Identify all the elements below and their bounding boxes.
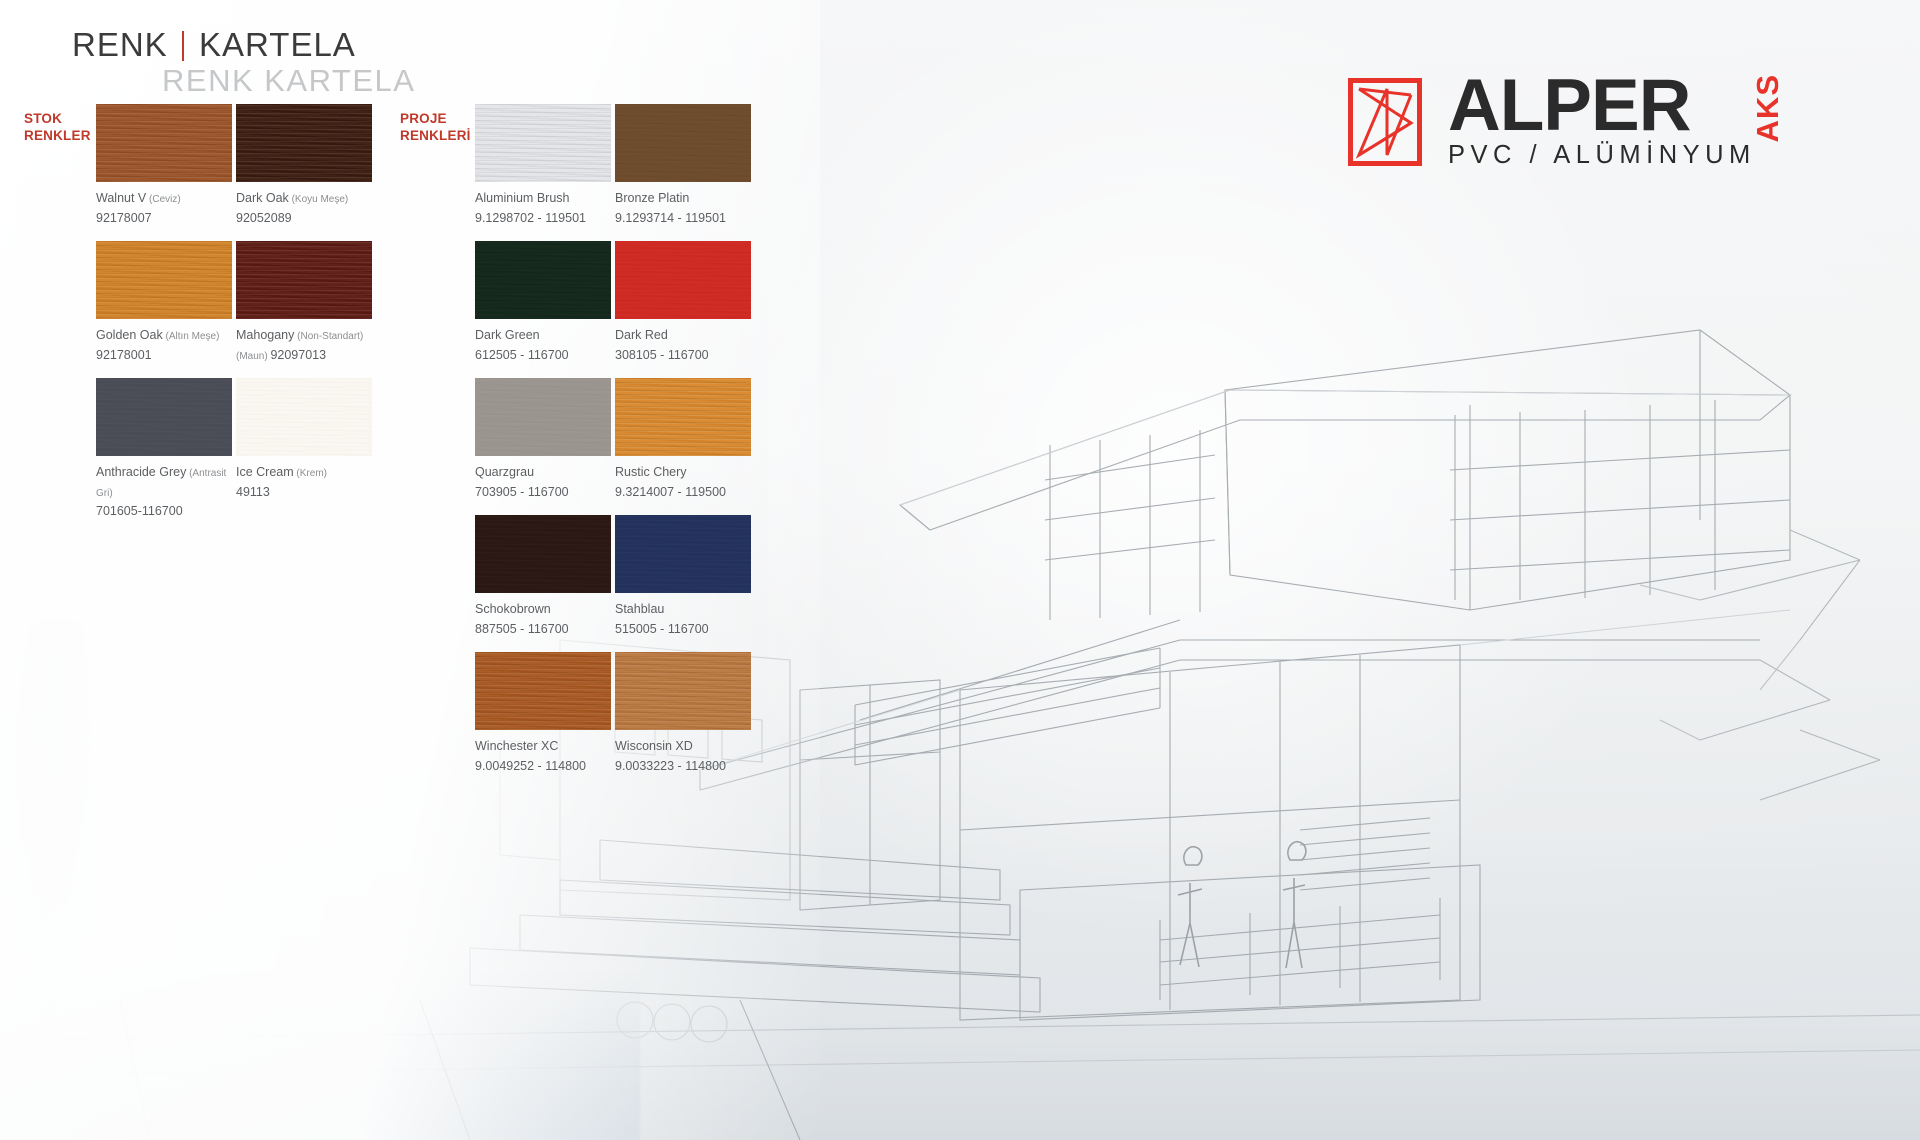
- swatch-name-translation: (Krem): [294, 468, 327, 479]
- swatch-code-line: 9.0049252 - 114800: [475, 756, 611, 776]
- swatch-name-line: Anthracide Grey (Antrasit Gri): [96, 462, 232, 501]
- swatch-row: Golden Oak (Altın Meşe)92178001Mahogany …: [96, 241, 372, 378]
- color-swatch[interactable]: [236, 241, 372, 319]
- swatch-name: Dark Green: [475, 328, 540, 342]
- swatch-name-line: Rustic Chery: [615, 462, 751, 482]
- color-swatch-cell[interactable]: Quarzgrau703905 - 116700: [475, 378, 611, 515]
- swatch-code: 703905 - 116700: [475, 485, 569, 499]
- page-title-right: KARTELA: [199, 26, 356, 63]
- project-colors-label-line2: RENKLERİ: [400, 127, 471, 144]
- color-swatch[interactable]: [236, 378, 372, 456]
- color-swatch-cell[interactable]: Bronze Platin9.1293714 - 119501: [615, 104, 751, 241]
- title-divider: [182, 31, 184, 61]
- swatch-name-translation-2: (Maun): [236, 351, 270, 362]
- brand-name: ALPER: [1448, 72, 1690, 139]
- color-swatch[interactable]: [615, 515, 751, 593]
- swatch-caption: Bronze Platin9.1293714 - 119501: [615, 182, 751, 241]
- swatch-caption: Anthracide Grey (Antrasit Gri)701605-116…: [96, 456, 232, 535]
- swatch-code: 9.1293714 - 119501: [615, 211, 726, 225]
- color-swatch[interactable]: [96, 104, 232, 182]
- color-swatch[interactable]: [475, 241, 611, 319]
- swatch-name-translation: (Koyu Meşe): [289, 194, 348, 205]
- swatch-caption: Walnut V (Ceviz)92178007: [96, 182, 232, 241]
- swatch-name-line: Dark Oak (Koyu Meşe): [236, 188, 372, 208]
- swatch-code-line: 92178007: [96, 208, 232, 228]
- swatch-code-line: 49113: [236, 482, 372, 502]
- swatch-caption: Wisconsin XD9.0033223 - 114800: [615, 730, 751, 789]
- swatch-name-line: Aluminium Brush: [475, 188, 611, 208]
- swatch-caption: Stahblau515005 - 116700: [615, 593, 751, 652]
- swatch-name: Quarzgrau: [475, 465, 534, 479]
- swatch-name-line: Walnut V (Ceviz): [96, 188, 232, 208]
- stock-colors-label-line1: STOK: [24, 110, 91, 127]
- swatch-code: 92178007: [96, 211, 152, 225]
- swatch-name: Mahogany: [236, 328, 294, 342]
- color-swatch[interactable]: [475, 515, 611, 593]
- swatch-code-line: 92178001: [96, 345, 232, 365]
- swatch-row: Walnut V (Ceviz)92178007Dark Oak (Koyu M…: [96, 104, 372, 241]
- swatch-code-line: 9.3214007 - 119500: [615, 482, 751, 502]
- swatch-code-line: 703905 - 116700: [475, 482, 611, 502]
- color-swatch-cell[interactable]: Walnut V (Ceviz)92178007: [96, 104, 232, 241]
- color-swatch[interactable]: [475, 104, 611, 182]
- swatch-name: Ice Cream: [236, 465, 294, 479]
- swatch-name: Walnut V: [96, 191, 146, 205]
- swatch-caption: Quarzgrau703905 - 116700: [475, 456, 611, 515]
- swatch-code: 9.0049252 - 114800: [475, 759, 586, 773]
- page-title-left: RENK: [72, 26, 168, 63]
- swatch-name-line: Bronze Platin: [615, 188, 751, 208]
- swatch-name-line: Golden Oak (Altın Meşe): [96, 325, 232, 345]
- swatch-code-line: 612505 - 116700: [475, 345, 611, 365]
- swatch-caption: Golden Oak (Altın Meşe)92178001: [96, 319, 232, 378]
- swatch-code-line: 9.1298702 - 119501: [475, 208, 611, 228]
- swatch-name: Golden Oak: [96, 328, 163, 342]
- swatch-name-line: Stahblau: [615, 599, 751, 619]
- stock-colors-grid: Walnut V (Ceviz)92178007Dark Oak (Koyu M…: [96, 104, 372, 535]
- swatch-name: Schokobrown: [475, 602, 551, 616]
- color-swatch[interactable]: [615, 652, 751, 730]
- color-swatch[interactable]: [615, 241, 751, 319]
- color-chart-page: RENK KARTELA RENK KARTELA STOK RENKLER P…: [0, 0, 1920, 1140]
- swatch-caption: Schokobrown887505 - 116700: [475, 593, 611, 652]
- swatch-name-translation: (Altın Meşe): [163, 331, 220, 342]
- swatch-name: Dark Oak: [236, 191, 289, 205]
- swatch-row: Winchester XC9.0049252 - 114800Wisconsin…: [475, 652, 751, 789]
- swatch-caption: Mahogany (Non-Standart)(Maun) 92097013: [236, 319, 372, 378]
- color-swatch-cell[interactable]: Anthracide Grey (Antrasit Gri)701605-116…: [96, 378, 232, 535]
- swatch-row: Aluminium Brush9.1298702 - 119501Bronze …: [475, 104, 751, 241]
- swatch-name: Rustic Chery: [615, 465, 687, 479]
- stock-colors-label-line2: RENKLER: [24, 127, 91, 144]
- swatch-caption: Rustic Chery9.3214007 - 119500: [615, 456, 751, 515]
- swatch-caption: Aluminium Brush9.1298702 - 119501: [475, 182, 611, 241]
- color-swatch-cell[interactable]: Rustic Chery9.3214007 - 119500: [615, 378, 751, 515]
- color-swatch[interactable]: [615, 378, 751, 456]
- swatch-code: 9.0033223 - 114800: [615, 759, 726, 773]
- color-swatch[interactable]: [96, 378, 232, 456]
- swatch-row: Schokobrown887505 - 116700Stahblau515005…: [475, 515, 751, 652]
- window-frame-icon: [1348, 78, 1422, 166]
- swatch-name: Dark Red: [615, 328, 668, 342]
- swatch-name: Winchester XC: [475, 739, 558, 753]
- color-swatch[interactable]: [475, 652, 611, 730]
- swatch-row: Quarzgrau703905 - 116700Rustic Chery9.32…: [475, 378, 751, 515]
- brand-logo: ALPER AKS PVC / ALÜMİNYUM: [1348, 72, 1756, 170]
- brand-wordmark: ALPER AKS PVC / ALÜMİNYUM: [1448, 72, 1756, 170]
- color-swatch-cell[interactable]: Winchester XC9.0049252 - 114800: [475, 652, 611, 789]
- page-title: RENK KARTELA RENK KARTELA: [72, 28, 415, 96]
- swatch-code: 92052089: [236, 211, 292, 225]
- project-colors-label-line1: PROJE: [400, 110, 471, 127]
- swatch-row: Anthracide Grey (Antrasit Gri)701605-116…: [96, 378, 372, 535]
- page-subtitle: RENK KARTELA: [162, 65, 415, 96]
- swatch-caption: Dark Red308105 - 116700: [615, 319, 751, 378]
- color-swatch-cell[interactable]: Dark Red308105 - 116700: [615, 241, 751, 378]
- swatch-name-line: Schokobrown: [475, 599, 611, 619]
- swatch-code: 887505 - 116700: [475, 622, 569, 636]
- stock-colors-label: STOK RENKLER: [24, 110, 91, 145]
- swatch-code: 9.1298702 - 119501: [475, 211, 586, 225]
- color-swatch-cell[interactable]: Stahblau515005 - 116700: [615, 515, 751, 652]
- swatch-row: Dark Green612505 - 116700Dark Red308105 …: [475, 241, 751, 378]
- swatch-name-line: Ice Cream (Krem): [236, 462, 372, 482]
- swatch-name-line: Quarzgrau: [475, 462, 611, 482]
- swatch-name: Wisconsin XD: [615, 739, 693, 753]
- swatch-name-line: Wisconsin XD: [615, 736, 751, 756]
- swatch-name-line: Dark Red: [615, 325, 751, 345]
- swatch-name-line: Winchester XC: [475, 736, 611, 756]
- swatch-code-line: 9.1293714 - 119501: [615, 208, 751, 228]
- background-haze: [768, 0, 1920, 1140]
- color-swatch-cell[interactable]: Schokobrown887505 - 116700: [475, 515, 611, 652]
- color-swatch[interactable]: [236, 104, 372, 182]
- swatch-name-translation: (Non-Standart): [294, 331, 363, 342]
- swatch-caption: Dark Green612505 - 116700: [475, 319, 611, 378]
- brand-tagline: PVC / ALÜMİNYUM: [1448, 141, 1756, 170]
- swatch-name-translation: (Ceviz): [146, 194, 180, 205]
- color-swatch[interactable]: [475, 378, 611, 456]
- swatch-name: Bronze Platin: [615, 191, 689, 205]
- project-colors-grid: Aluminium Brush9.1298702 - 119501Bronze …: [475, 104, 751, 789]
- color-swatch-cell[interactable]: Dark Oak (Koyu Meşe)92052089: [236, 104, 372, 241]
- swatch-code: 701605-116700: [96, 504, 183, 518]
- color-swatch-cell[interactable]: Golden Oak (Altın Meşe)92178001: [96, 241, 232, 378]
- swatch-caption: Dark Oak (Koyu Meşe)92052089: [236, 182, 372, 241]
- swatch-code-line: 308105 - 116700: [615, 345, 751, 365]
- window-frame-icon-lines: [1353, 83, 1417, 161]
- swatch-name-line: Mahogany (Non-Standart): [236, 325, 372, 345]
- brand-suffix: AKS: [1750, 74, 1786, 142]
- swatch-code-line: (Maun) 92097013: [236, 345, 372, 365]
- swatch-code: 92097013: [270, 348, 326, 362]
- swatch-code-line: 515005 - 116700: [615, 619, 751, 639]
- swatch-code: 515005 - 116700: [615, 622, 709, 636]
- color-chart-panel: RENK KARTELA RENK KARTELA STOK RENKLER P…: [0, 0, 820, 1140]
- color-swatch-cell[interactable]: Dark Green612505 - 116700: [475, 241, 611, 378]
- color-swatch[interactable]: [615, 104, 751, 182]
- swatch-code-line: 887505 - 116700: [475, 619, 611, 639]
- swatch-caption: Ice Cream (Krem)49113: [236, 456, 372, 515]
- swatch-code-line: 9.0033223 - 114800: [615, 756, 751, 776]
- color-swatch-cell[interactable]: Mahogany (Non-Standart)(Maun) 92097013: [236, 241, 372, 378]
- swatch-code-line: 701605-116700: [96, 501, 232, 521]
- swatch-name-line: Dark Green: [475, 325, 611, 345]
- swatch-code: 49113: [236, 485, 270, 499]
- swatch-code: 308105 - 116700: [615, 348, 709, 362]
- swatch-code: 9.3214007 - 119500: [615, 485, 726, 499]
- swatch-name: Aluminium Brush: [475, 191, 569, 205]
- swatch-code: 92178001: [96, 348, 152, 362]
- project-colors-label: PROJE RENKLERİ: [400, 110, 471, 145]
- swatch-code-line: 92052089: [236, 208, 372, 228]
- color-swatch-cell[interactable]: Aluminium Brush9.1298702 - 119501: [475, 104, 611, 241]
- swatch-caption: Winchester XC9.0049252 - 114800: [475, 730, 611, 789]
- swatch-name: Stahblau: [615, 602, 664, 616]
- color-swatch-cell[interactable]: Ice Cream (Krem)49113: [236, 378, 372, 535]
- color-swatch-cell[interactable]: Wisconsin XD9.0033223 - 114800: [615, 652, 751, 789]
- color-swatch[interactable]: [96, 241, 232, 319]
- swatch-name: Anthracide Grey: [96, 465, 186, 479]
- swatch-code: 612505 - 116700: [475, 348, 569, 362]
